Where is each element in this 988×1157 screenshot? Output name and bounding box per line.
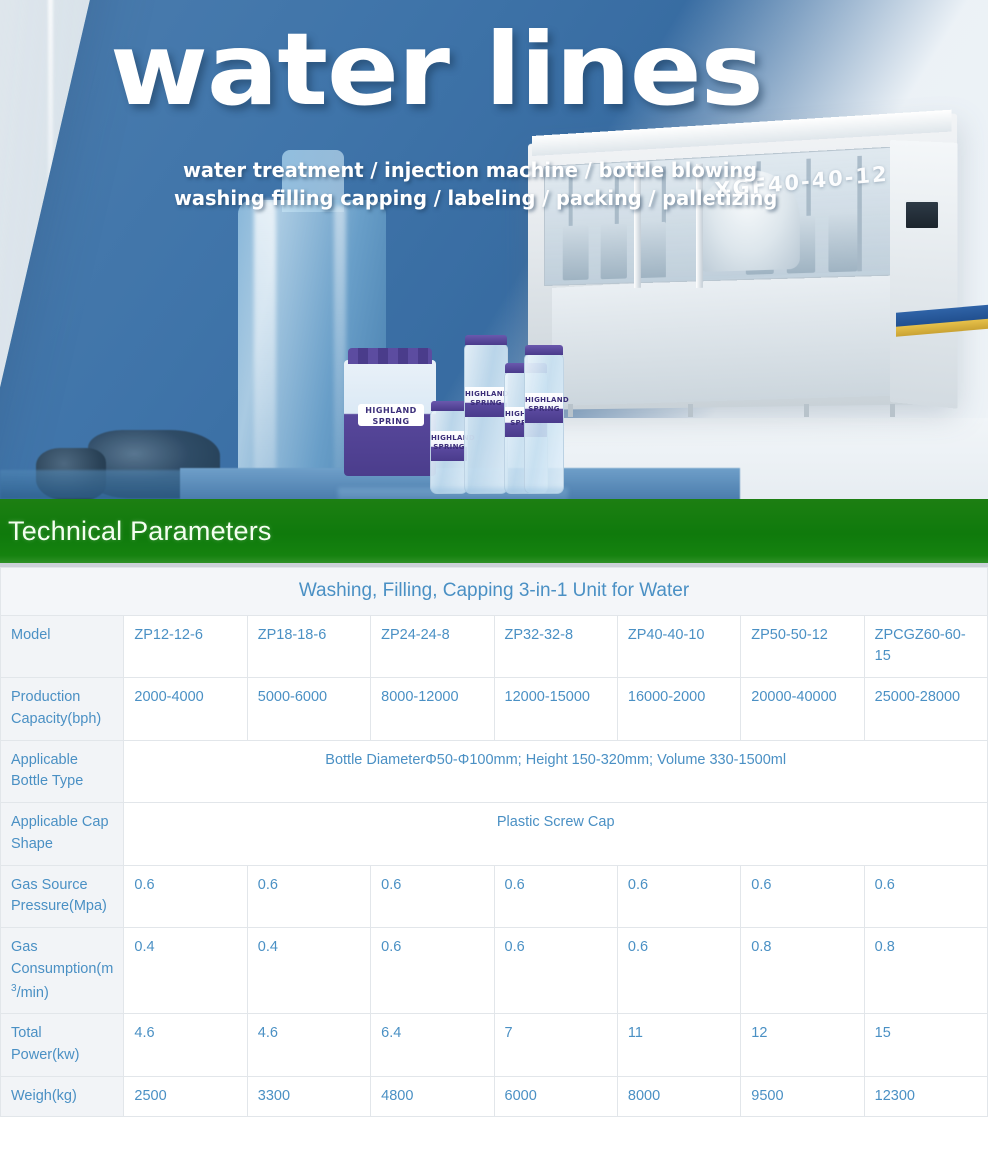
bottle-multipack: HIGHLAND SPRING — [344, 360, 436, 476]
row-label-part: /min) — [17, 984, 49, 1000]
row-label: Total Power(kw) — [1, 1014, 124, 1077]
bottle-reflection — [338, 488, 568, 499]
row-label: Production Capacity(bph) — [1, 678, 124, 741]
row-label: Applicable Cap Shape — [1, 803, 124, 866]
value-cell: 4800 — [371, 1076, 494, 1117]
value-cell: 0.6 — [371, 928, 494, 1014]
table-row: Gas Source Pressure(Mpa)0.60.60.60.60.60… — [1, 865, 988, 928]
merged-value-cell: Plastic Screw Cap — [124, 803, 988, 866]
technical-parameters-table-wrap: Washing, Filling, Capping 3-in-1 Unit fo… — [0, 567, 988, 1117]
value-cell: 0.6 — [741, 865, 864, 928]
table-row: Production Capacity(bph)2000-40005000-60… — [1, 678, 988, 741]
bottle-label: HIGHLAND SPRING — [525, 393, 563, 423]
model-cell: ZP12-12-6 — [124, 615, 247, 678]
bottle-label: HIGHLAND SPRING — [465, 387, 507, 417]
table-row: Applicable Bottle TypeBottle DiameterΦ50… — [1, 740, 988, 803]
banner-subtitle-line1: water treatment / injection machine / bo… — [183, 158, 757, 182]
value-cell: 0.6 — [617, 865, 740, 928]
value-cell: 9500 — [741, 1076, 864, 1117]
value-cell: 0.8 — [741, 928, 864, 1014]
value-cell: 0.6 — [247, 865, 370, 928]
bottle-brand-line2: SPRING — [433, 443, 465, 451]
table-row: Gas Consumption(m3/min)0.40.40.60.60.60.… — [1, 928, 988, 1014]
row-label: Gas Consumption(m3/min) — [1, 928, 124, 1014]
value-cell: 0.4 — [124, 928, 247, 1014]
bottle-brand-line1: HIGHLAND — [465, 390, 509, 398]
table-row: Total Power(kw)4.64.66.47111215 — [1, 1014, 988, 1077]
value-cell: 3300 — [247, 1076, 370, 1117]
value-cell: 0.6 — [494, 865, 617, 928]
multipack-brand-line2: SPRING — [372, 417, 409, 426]
table-body: Washing, Filling, Capping 3-in-1 Unit fo… — [1, 568, 988, 1117]
bottle-small: HIGHLAND SPRING — [430, 410, 468, 494]
bottle-brand-line2: SPRING — [528, 405, 560, 413]
value-cell: 0.6 — [494, 928, 617, 1014]
value-cell: 8000 — [617, 1076, 740, 1117]
value-cell: 0.6 — [864, 865, 987, 928]
value-cell: 12000-15000 — [494, 678, 617, 741]
value-cell: 6000 — [494, 1076, 617, 1117]
section-title: Technical Parameters — [0, 516, 272, 547]
value-cell: 2500 — [124, 1076, 247, 1117]
value-cell: 8000-12000 — [371, 678, 494, 741]
value-cell: 12 — [741, 1014, 864, 1077]
table-title-row: Washing, Filling, Capping 3-in-1 Unit fo… — [1, 568, 988, 616]
row-label: Applicable Bottle Type — [1, 740, 124, 803]
value-cell: 2000-4000 — [124, 678, 247, 741]
value-cell: 0.4 — [247, 928, 370, 1014]
bottle-cap — [525, 345, 563, 355]
bottle-label: HIGHLAND SPRING — [431, 431, 467, 461]
bottle-right: HIGHLAND SPRING — [524, 354, 564, 494]
machine-door-mullion-left — [634, 164, 641, 288]
value-cell: 4.6 — [124, 1014, 247, 1077]
value-cell: 0.6 — [124, 865, 247, 928]
value-cell: 0.8 — [864, 928, 987, 1014]
bottle-cap — [465, 335, 507, 345]
row-label: Weigh(kg) — [1, 1076, 124, 1117]
banner-title: water lines — [110, 20, 763, 120]
value-cell: 12300 — [864, 1076, 987, 1117]
bottle-brand-line1: HIGHLAND — [525, 396, 569, 404]
machine-legs — [568, 404, 898, 418]
table-row: Applicable Cap ShapePlastic Screw Cap — [1, 803, 988, 866]
value-cell: 11 — [617, 1014, 740, 1077]
machine-lower-skirt — [552, 268, 916, 406]
technical-parameters-header: Technical Parameters — [0, 499, 988, 567]
table-title: Washing, Filling, Capping 3-in-1 Unit fo… — [1, 568, 988, 616]
technical-parameters-table: Washing, Filling, Capping 3-in-1 Unit fo… — [0, 567, 988, 1117]
machine-door-mullion-right — [696, 164, 703, 288]
row-label: Gas Source Pressure(Mpa) — [1, 865, 124, 928]
value-cell: 0.6 — [617, 928, 740, 1014]
value-cell: 6.4 — [371, 1014, 494, 1077]
value-cell: 20000-40000 — [741, 678, 864, 741]
bottle-brand-line2: SPRING — [470, 399, 502, 407]
value-cell: 5000-6000 — [247, 678, 370, 741]
machine-hmi-screen — [904, 200, 940, 230]
value-cell: 25000-28000 — [864, 678, 987, 741]
row-label-part: Gas Consumption(m — [11, 939, 113, 977]
merged-value-cell: Bottle DiameterΦ50-Φ100mm; Height 150-32… — [124, 740, 988, 803]
table-row: Weigh(kg)25003300480060008000950012300 — [1, 1076, 988, 1117]
bottle-tall: HIGHLAND SPRING — [464, 344, 508, 494]
value-cell: 15 — [864, 1014, 987, 1077]
bottle-product-group: HIGHLAND SPRING HIGHLAND SPRING HIGHLAND… — [338, 318, 568, 494]
model-cell: ZP18-18-6 — [247, 615, 370, 678]
product-banner: XGF40-40-12 HIGHLAND SPRING HIGHLAND SPR… — [0, 0, 988, 499]
table-row-model: Model ZP12-12-6ZP18-18-6ZP24-24-8ZP32-32… — [1, 615, 988, 678]
row-label-model: Model — [1, 615, 124, 678]
multipack-brand-line1: HIGHLAND — [365, 406, 417, 415]
model-cell: ZP32-32-8 — [494, 615, 617, 678]
banner-subtitle-line2: washing filling capping / labeling / pac… — [174, 186, 777, 210]
model-cell: ZP40-40-10 — [617, 615, 740, 678]
model-cell: ZP50-50-12 — [741, 615, 864, 678]
multipack-brand-label: HIGHLAND SPRING — [358, 404, 424, 426]
value-cell: 0.6 — [371, 865, 494, 928]
value-cell: 4.6 — [247, 1014, 370, 1077]
value-cell: 16000-2000 — [617, 678, 740, 741]
value-cell: 7 — [494, 1014, 617, 1077]
model-cell: ZPCGZ60-60-15 — [864, 615, 987, 678]
machine-control-cabinet — [890, 140, 958, 409]
bottle-cap — [431, 401, 467, 411]
model-cell: ZP24-24-8 — [371, 615, 494, 678]
